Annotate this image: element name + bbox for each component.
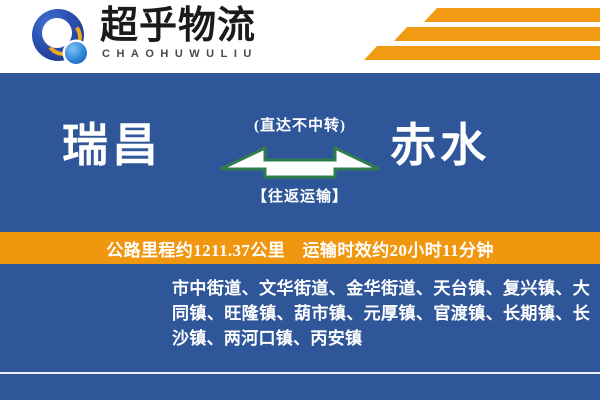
distance-duration-bar: 公路里程约1211.37公里 运输时效约20小时11分钟 [0, 232, 600, 264]
bottom-divider [0, 372, 600, 374]
header-stripe-decoration [340, 6, 600, 68]
brand-name-pinyin: CHAOHUWULIU [102, 48, 258, 60]
stripe-3 [364, 46, 600, 60]
route-section: 瑞昌 (直达不中转) 【往返运输】 赤水 [0, 78, 600, 230]
service-area-list: 市中街道、文华街道、金华街道、天台镇、复兴镇、大同镇、旺隆镇、葫市镇、元厚镇、官… [172, 276, 590, 351]
destination-city-label: 赤水 [390, 118, 490, 174]
banner-header: 超乎物流 CHAOHUWULIU [0, 0, 600, 73]
stripe-1 [424, 8, 600, 22]
logo-accent-dot-icon [65, 42, 87, 64]
direct-shipping-note: (直达不中转) [0, 114, 600, 135]
service-area-section: 市中街道、文华街道、金华街道、天台镇、复兴镇、大同镇、旺隆镇、葫市镇、元厚镇、官… [0, 264, 600, 400]
distance-duration-text: 公路里程约1211.37公里 运输时效约20小时11分钟 [106, 236, 494, 261]
chaohu-circle-logo-icon [32, 9, 92, 67]
bidirectional-arrow-icon [219, 140, 381, 182]
brand-name-chinese: 超乎物流 [100, 4, 256, 48]
stripe-2 [394, 27, 600, 41]
round-trip-note: 【往返运输】 [0, 185, 600, 206]
logistics-route-banner: 超乎物流 CHAOHUWULIU 瑞昌 (直达不中转) 【往返运输】 赤水 公路… [0, 0, 600, 400]
